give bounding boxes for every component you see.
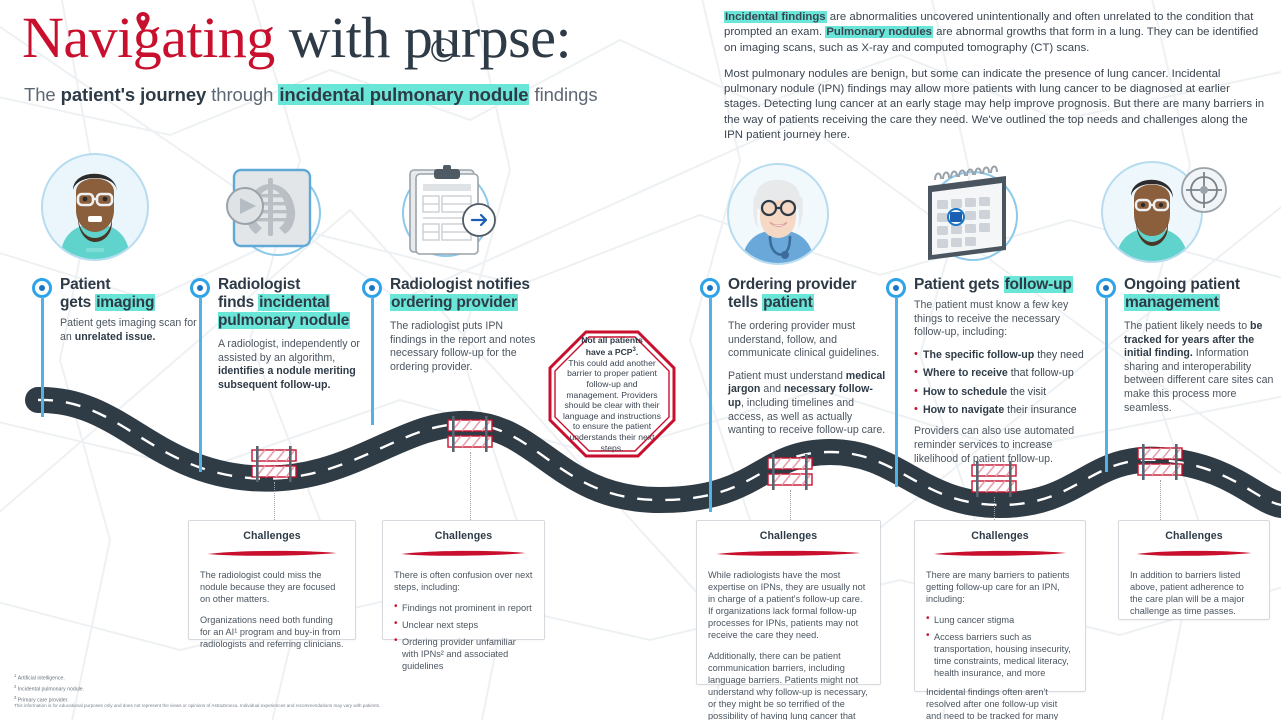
step-stem-1 — [41, 297, 44, 417]
step-body-4-p2: Patient must understand medical jargon a… — [728, 370, 886, 438]
xray-scan-icon — [212, 158, 330, 258]
step-title-1: Patient gets imaging — [60, 276, 210, 312]
step-body-5-intro: The patient must know a few key things t… — [914, 299, 1084, 340]
step-marker-dot-4 — [700, 278, 720, 298]
patient-tracking-icon — [1100, 160, 1236, 264]
step-body-5-outro: Providers can also use automated reminde… — [914, 425, 1084, 466]
card-2-p1: There is often confusion over next steps… — [394, 569, 533, 593]
card-1-p1: The radiologist could miss the nodule be… — [200, 569, 344, 605]
step-body-2-b: identifies a nodule meriting subsequent … — [218, 365, 356, 391]
clipboard-report-icon — [394, 158, 504, 260]
step-content-3: Radiologist notifies ordering provider T… — [390, 276, 540, 374]
step-body-3: The radiologist puts IPN findings in the… — [390, 320, 540, 374]
card-heading-2: Challenges — [394, 530, 533, 542]
step-title-1-line2: gets — [60, 294, 95, 311]
footnotes: 1 Artificial intelligence. 2 Incidental … — [14, 672, 84, 705]
card-heading-3: Challenges — [708, 530, 869, 542]
card-underline-5 — [1130, 548, 1258, 558]
step-marker-dot-3 — [362, 278, 382, 298]
challenges-patient-follow-up[interactable]: Challenges There are many barriers to pa… — [914, 520, 1086, 692]
barrier-icon-1 — [252, 446, 296, 482]
step-content-5: Patient gets follow-up The patient must … — [914, 276, 1084, 466]
footnote-2: 2 Incidental pulmonary nodule. — [14, 683, 84, 694]
step-body-4-p1: The ordering provider must understand, f… — [728, 320, 886, 361]
patient-avatar-icon — [40, 152, 150, 262]
step-body-2-a: A radiologist, independently or assisted… — [218, 338, 360, 364]
step-stem-6 — [1105, 297, 1108, 472]
step-title-1-highlight: imaging — [95, 294, 155, 311]
step-title-4-line1: Ordering provider — [728, 276, 856, 293]
step-title-5-highlight: follow-up — [1004, 276, 1073, 293]
card-underline-4 — [926, 548, 1074, 558]
step-5-bullet-1: The specific follow-up they need — [914, 349, 1084, 362]
card-4-bullets: Lung cancer stigma Access barriers such … — [926, 614, 1074, 679]
step-5-bullet-list: The specific follow-up they need Where t… — [914, 349, 1084, 418]
step-body-4-p2c: and — [760, 383, 784, 395]
challenges-radiologist-notifies[interactable]: Challenges There is often confusion over… — [382, 520, 545, 640]
barrier-icon-5 — [1138, 444, 1182, 480]
disclaimer-text: This information is for educational purp… — [14, 703, 380, 709]
step-stem-4 — [709, 297, 712, 512]
barrier-icon-4 — [972, 461, 1016, 497]
card-5-p1: In addition to barriers listed above, pa… — [1130, 569, 1258, 617]
footnote-1: 1 Artificial intelligence. — [14, 672, 84, 683]
step-title-5-line1: Patient gets — [914, 276, 1004, 293]
step-content-6: Ongoing patient management The patient l… — [1124, 276, 1276, 415]
card-underline-2 — [394, 548, 533, 558]
stop-sign-text: Not all patientshave a PCP3. This could … — [559, 343, 665, 445]
card-2-bullet-2: Unclear next steps — [394, 619, 533, 631]
step-body-2: A radiologist, independently or assisted… — [218, 338, 368, 392]
clinician-avatar-icon — [726, 162, 830, 266]
step-stem-2 — [199, 297, 202, 472]
card-underline-3 — [708, 548, 869, 558]
step-title-6-highlight: management — [1124, 294, 1220, 311]
challenges-radiologist-finds[interactable]: Challenges The radiologist could miss th… — [188, 520, 356, 640]
calendar-icon — [918, 160, 1024, 264]
stop-sign-body: This could add another barrier to proper… — [559, 358, 665, 453]
barrier-icon-2 — [448, 416, 492, 452]
step-content-4: Ordering provider tells patient The orde… — [728, 276, 886, 438]
step-content-1: Patient gets imaging Patient gets imagin… — [60, 276, 210, 344]
card-heading-4: Challenges — [926, 530, 1074, 542]
stop-heading-period: . — [636, 347, 638, 357]
step-title-3-highlight: ordering provider — [390, 294, 518, 311]
step-title-4-line2: tells — [728, 294, 762, 311]
step-marker-dot-6 — [1096, 278, 1116, 298]
step-title-6-line1: Ongoing patient — [1124, 276, 1240, 293]
step-body-6-a: The patient likely needs to — [1124, 320, 1250, 332]
step-body-4-p2a: Patient must understand — [728, 370, 846, 382]
step-marker-dot-1 — [32, 278, 52, 298]
step-title-1-line1: Patient — [60, 276, 110, 293]
card-4-p2: Incidental findings often aren't resolve… — [926, 686, 1074, 720]
step-title-3: Radiologist notifies ordering provider — [390, 276, 540, 312]
step-title-2: Radiologist finds incidental pulmonary n… — [218, 276, 368, 330]
challenges-ongoing-management[interactable]: Challenges In addition to barriers liste… — [1118, 520, 1270, 620]
step-title-2-line1: Radiologist — [218, 276, 300, 293]
step-body-1-b: unrelated issue. — [75, 331, 156, 343]
step-title-4-highlight: patient — [762, 294, 813, 311]
stop-heading-line2: have a PCP — [586, 347, 633, 357]
step-title-2-line2: finds — [218, 294, 258, 311]
card-3-p1: While radiologists have the most experti… — [708, 569, 869, 641]
step-body-3-a: The radiologist puts IPN findings in the… — [390, 320, 540, 374]
challenges-provider-tells-patient[interactable]: Challenges While radiologists have the m… — [696, 520, 881, 685]
step-stem-3 — [371, 297, 374, 425]
card-heading-5: Challenges — [1130, 530, 1258, 542]
step-content-2: Radiologist finds incidental pulmonary n… — [218, 276, 368, 392]
stop-sign-heading: Not all patientshave a PCP3. — [559, 335, 665, 358]
card-underline-1 — [200, 548, 344, 558]
step-title-3-line1: Radiologist notifies — [390, 276, 530, 293]
step-body-1: Patient gets imaging scan for an unrelat… — [60, 317, 210, 344]
card-body-3: While radiologists have the most experti… — [708, 569, 869, 720]
card-body-5: In addition to barriers listed above, pa… — [1130, 569, 1258, 617]
card-3-p2: Additionally, there can be patient commu… — [708, 650, 869, 720]
card-heading-1: Challenges — [200, 530, 344, 542]
step-title-5: Patient gets follow-up — [914, 276, 1084, 294]
step-5-bullet-2: Where to receive that follow-up — [914, 367, 1084, 380]
card-body-2: There is often confusion over next steps… — [394, 569, 533, 672]
card-body-4: There are many barriers to patients gett… — [926, 569, 1074, 720]
card-body-1: The radiologist could miss the nodule be… — [200, 569, 344, 650]
card-1-p2: Organizations need both funding for an A… — [200, 614, 344, 650]
step-5-bullet-4: How to navigate their insurance — [914, 404, 1084, 417]
step-title-4: Ordering provider tells patient — [728, 276, 886, 312]
card-4-bullet-1: Lung cancer stigma — [926, 614, 1074, 626]
step-marker-dot-2 — [190, 278, 210, 298]
card-2-bullet-3: Ordering provider unfamiliar with IPNs² … — [394, 636, 533, 672]
step-title-6: Ongoing patient management — [1124, 276, 1276, 312]
step-body-5: The patient must know a few key things t… — [914, 299, 1084, 466]
step-marker-dot-5 — [886, 278, 906, 298]
stop-heading-line1: Not all patients — [581, 335, 643, 345]
step-body-4: The ordering provider must understand, f… — [728, 320, 886, 438]
card-4-p1: There are many barriers to patients gett… — [926, 569, 1074, 605]
step-stem-5 — [895, 297, 898, 487]
card-2-bullets: Findings not prominent in report Unclear… — [394, 602, 533, 672]
infographic-root: Navigating with purpse: The patient's jo… — [0, 0, 1281, 720]
barrier-icon-3 — [768, 454, 812, 490]
step-5-bullet-3: How to schedule the visit — [914, 386, 1084, 399]
step-body-6: The patient likely needs to be tracked f… — [1124, 320, 1276, 415]
stop-sign-callout: Not all patientshave a PCP3. This could … — [548, 330, 676, 458]
card-2-bullet-1: Findings not prominent in report — [394, 602, 533, 614]
step-body-4-p2e: , including timelines and access, as wel… — [728, 397, 885, 436]
card-4-bullet-2: Access barriers such as transportation, … — [926, 631, 1074, 679]
